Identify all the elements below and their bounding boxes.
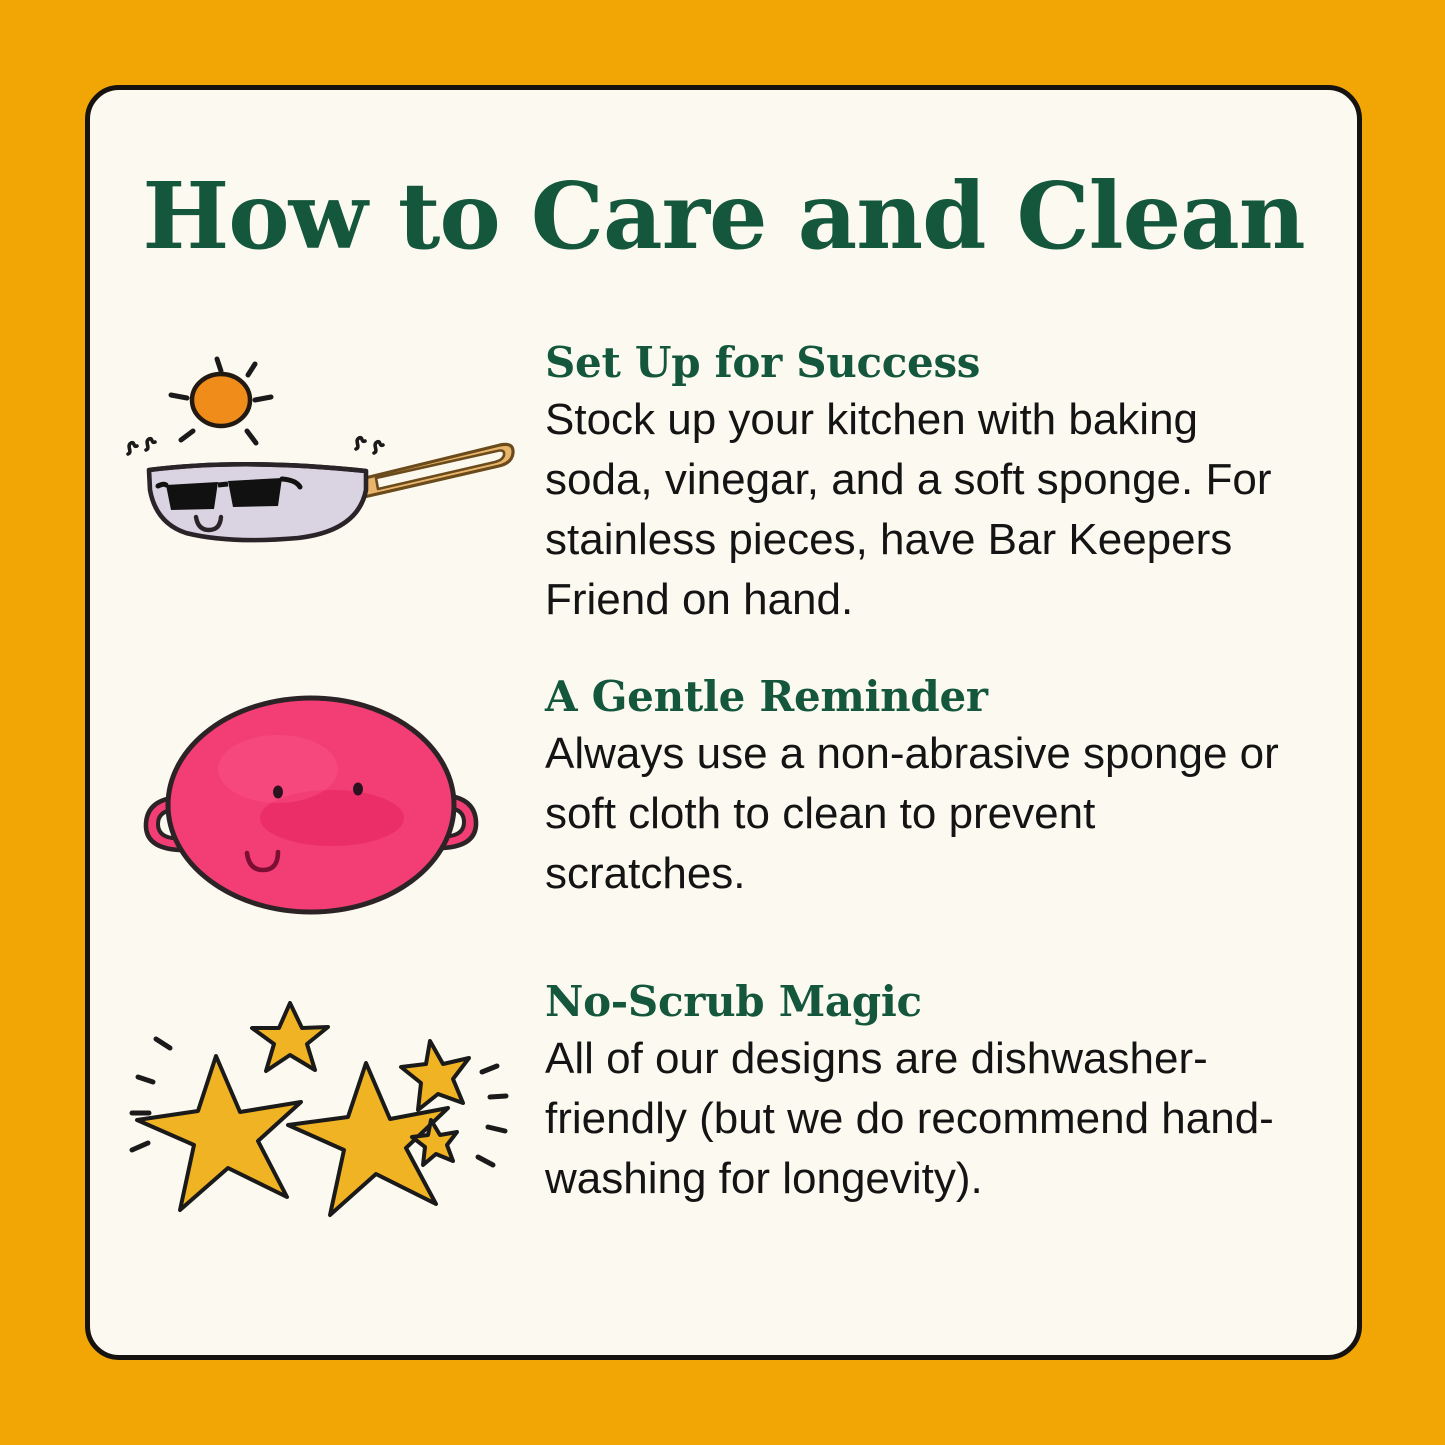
section-heading: A Gentle Reminder: [545, 673, 1302, 720]
sparkle-dashes-right-icon: [478, 1066, 506, 1165]
section-copy: A Gentle Reminder Always use a non-abras…: [545, 669, 1357, 904]
golden-stars-illustration: [90, 974, 545, 1219]
care-section-a-gentle-reminder: A Gentle Reminder Always use a non-abras…: [90, 669, 1357, 934]
star-big-left-icon: [137, 1056, 301, 1210]
care-section-no-scrub-magic: No-Scrub Magic All of our designs are di…: [90, 974, 1357, 1239]
care-section-set-up-for-success: Set Up for Success Stock up your kitchen…: [90, 335, 1357, 629]
dish-eye-right-icon: [353, 783, 363, 796]
section-heading: Set Up for Success: [545, 339, 1302, 386]
care-instructions-card: How to Care and Clean: [85, 85, 1362, 1360]
star-right-medium-icon: [401, 1041, 469, 1110]
section-body: Stock up your kitchen with baking soda, …: [545, 390, 1285, 629]
casserole-dish-svg: [118, 679, 518, 929]
care-sections-list: Set Up for Success Stock up your kitchen…: [90, 335, 1357, 1239]
pink-casserole-dish-illustration: [90, 669, 545, 929]
section-body: Always use a non-abrasive sponge or soft…: [545, 724, 1285, 903]
steam-squiggle-right-icon: [356, 438, 383, 453]
page-title: How to Care and Clean: [90, 170, 1357, 262]
section-copy: Set Up for Success Stock up your kitchen…: [545, 335, 1357, 629]
steam-squiggle-left-icon: [128, 439, 155, 454]
section-copy: No-Scrub Magic All of our designs are di…: [545, 974, 1357, 1209]
sun-icon: [171, 359, 271, 443]
skillet-sun-svg: [108, 345, 528, 595]
star-top-icon: [252, 1003, 328, 1071]
poster-canvas: How to Care and Clean: [0, 0, 1445, 1445]
section-heading: No-Scrub Magic: [545, 978, 1302, 1025]
skillet-with-sunglasses-illustration: [90, 335, 545, 595]
section-body: All of our designs are dishwasher-friend…: [545, 1029, 1285, 1208]
dish-eye-left-icon: [273, 786, 283, 799]
pan-handle-icon: [361, 444, 513, 497]
stars-svg: [118, 984, 518, 1219]
